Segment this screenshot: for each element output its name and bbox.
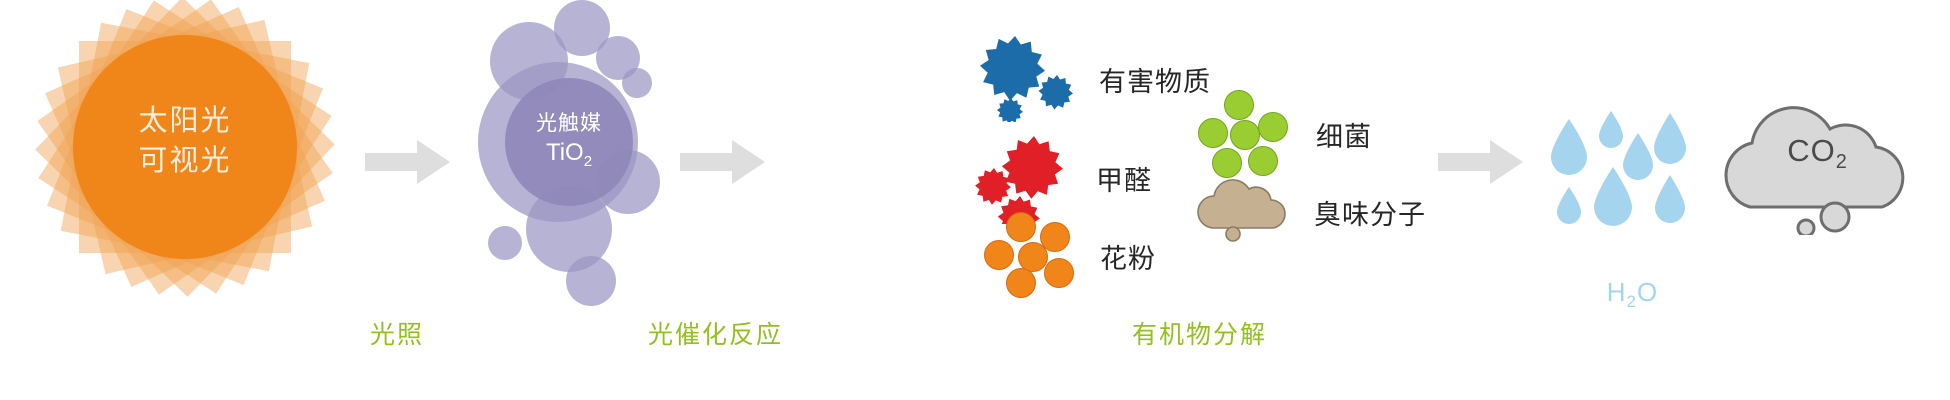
sun-label-line-2: 可视光	[30, 141, 340, 181]
water-droplets-icon	[1545, 85, 1720, 275]
arrow-sun-to-catalyst	[365, 140, 450, 184]
bacteria-dot	[1248, 146, 1278, 176]
bacteria-icon	[1198, 90, 1298, 178]
caption-photocatalytic-reaction: 光催化反应	[648, 315, 783, 351]
bacteria-dot	[1230, 120, 1260, 150]
pollen-dot	[984, 240, 1014, 270]
water-label-sub: 2	[1627, 292, 1637, 311]
catalyst-formula-sub: 2	[584, 152, 592, 169]
carbon-dioxide-product: CO2	[1710, 95, 1935, 235]
pollutant-pollen: 花粉	[982, 212, 1156, 298]
water-label-tail: O	[1637, 277, 1658, 307]
photocatalyst-group: 光触媒 TiO2	[470, 0, 680, 320]
sun-label-line-1: 太阳光	[30, 101, 340, 141]
pollutant-bacteria: 细菌	[1198, 90, 1372, 178]
co2-label-sub: 2	[1836, 151, 1848, 173]
sun-label: 太阳光 可视光	[30, 101, 340, 181]
carbon-dioxide-label: CO2	[1710, 133, 1925, 174]
water-product: H2O	[1545, 85, 1720, 275]
bubble	[488, 226, 522, 260]
water-label-main: H	[1607, 277, 1627, 307]
infographic-canvas: 太阳光 可视光 光触媒 TiO2	[0, 0, 1950, 400]
pollen-icon	[982, 212, 1082, 298]
odor-molecules-label: 臭味分子	[1314, 193, 1426, 232]
harmful-substances-icon	[975, 30, 1085, 122]
pollen-label: 花粉	[1100, 237, 1156, 276]
pollen-dot	[1044, 258, 1074, 288]
pollutant-odor-molecules: 臭味分子	[1192, 178, 1426, 242]
bacteria-dot	[1212, 148, 1242, 178]
sunlight-source: 太阳光 可视光	[30, 0, 340, 302]
pollutant-harmful-substances: 有害物质	[975, 30, 1211, 122]
formaldehyde-icon	[972, 128, 1084, 224]
catalyst-label: 光触媒 TiO2	[505, 78, 633, 206]
bacteria-dot	[1224, 90, 1254, 120]
arrow-catalyst-to-pollutants	[680, 140, 765, 184]
co2-label-main: CO	[1787, 133, 1836, 168]
pollen-dot	[1006, 268, 1036, 298]
pollutant-formaldehyde: 甲醛	[972, 128, 1152, 224]
caption-organic-decomposition: 有机物分解	[1132, 315, 1267, 351]
harmful-substances-label: 有害物质	[1099, 60, 1211, 99]
catalyst-formula: TiO2	[546, 138, 592, 176]
water-label: H2O	[1545, 277, 1720, 312]
bubble	[566, 256, 616, 306]
formaldehyde-label: 甲醛	[1096, 159, 1152, 198]
odor-cloud-icon	[1192, 178, 1294, 242]
bacteria-dot	[1198, 118, 1228, 148]
pollen-dot	[1006, 212, 1036, 242]
bacteria-dot	[1258, 112, 1288, 142]
bacteria-label: 细菌	[1316, 115, 1372, 154]
catalyst-formula-main: TiO	[546, 139, 584, 166]
catalyst-label-name: 光触媒	[536, 109, 602, 138]
caption-illumination: 光照	[370, 315, 424, 351]
arrow-pollutants-to-products	[1438, 140, 1523, 184]
